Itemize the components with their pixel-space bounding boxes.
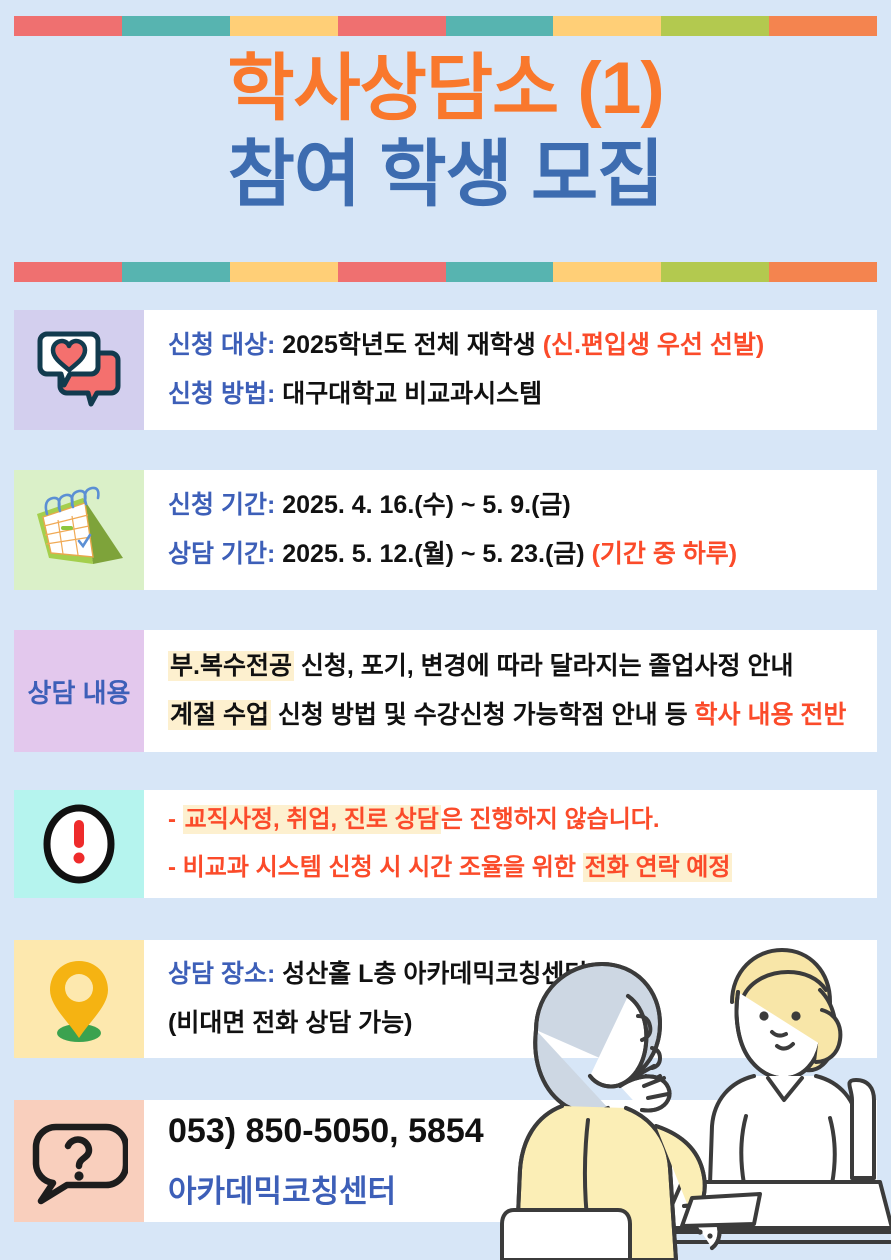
line-application-target: 신청 대상: 2025학년도 전체 재학생 (신.편입생 우선 선발) — [168, 327, 877, 365]
line-place-note: (비대면 전화 상담 가능) — [168, 1005, 877, 1043]
dash-notice-2: - — [168, 854, 183, 881]
color-segment-2 — [122, 262, 230, 282]
contact-phone-number: 053) 850-5050, 5854 — [168, 1106, 877, 1157]
value-counseling-period: 2025. 5. 12.(월) ~ 5. 23.(금) — [275, 540, 591, 568]
value-application-method: 대구대학교 비교과시스템 — [275, 380, 542, 408]
highlight-double-major: 부.복수전공 — [168, 651, 294, 681]
row-contact: 053) 850-5050, 5854 아카데믹코칭센터 — [14, 1100, 877, 1222]
color-segment-1 — [14, 262, 122, 282]
note-counseling-period: (기간 중 하루) — [592, 540, 738, 568]
desk-calendar-icon-cell — [14, 470, 144, 590]
text-content-1: 신청, 포기, 변경에 따라 달라지는 졸업사정 안내 — [294, 652, 794, 680]
line-content-2: 계절 수업 신청 방법 및 수강신청 가능학점 안내 등 학사 내용 전반 — [168, 697, 877, 735]
color-segment-8 — [769, 262, 877, 282]
title-line-2: 참여 학생 모집 — [0, 132, 891, 218]
line-notice-1: - 교직사정, 취업, 진로 상담은 진행하지 않습니다. — [168, 802, 877, 838]
highlight-seasonal-class: 계절 수업 — [168, 700, 271, 730]
row-application-target-body: 신청 대상: 2025학년도 전체 재학생 (신.편입생 우선 선발) 신청 방… — [144, 310, 877, 430]
value-application-target: 2025학년도 전체 재학생 — [275, 331, 542, 359]
highlight-phone-contact: 전화 연락 예정 — [583, 853, 733, 882]
color-segment-6 — [553, 262, 661, 282]
color-segment-2 — [122, 16, 230, 36]
line-counseling-period: 상담 기간: 2025. 5. 12.(월) ~ 5. 23.(금) (기간 중… — [168, 536, 877, 574]
color-segment-5 — [446, 16, 554, 36]
row-period-body: 신청 기간: 2025. 4. 16.(수) ~ 5. 9.(금) 상담 기간:… — [144, 470, 877, 590]
label-counseling-period: 상담 기간: — [168, 540, 275, 568]
color-segment-5 — [446, 262, 554, 282]
row-period: 신청 기간: 2025. 4. 16.(수) ~ 5. 9.(금) 상담 기간:… — [14, 470, 877, 590]
exclamation-circle-icon-cell — [14, 790, 144, 898]
label-application-method: 신청 방법: — [168, 380, 275, 408]
color-segment-7 — [661, 16, 769, 36]
note-application-target: (신.편입생 우선 선발) — [543, 331, 765, 359]
row-notice-body: - 교직사정, 취업, 진로 상담은 진행하지 않습니다. - 비교과 시스템 … — [144, 790, 877, 898]
map-pin-icon-cell — [14, 940, 144, 1058]
map-pin-icon — [40, 953, 118, 1045]
poster-root: 학사상담소 (1) 참여 학생 모집 신청 대상: 2025학년도 전체 재학생… — [0, 0, 891, 1260]
row-notice: - 교직사정, 취업, 진로 상담은 진행하지 않습니다. - 비교과 시스템 … — [14, 790, 877, 898]
row-place-body: 상담 장소: 성산홀 L층 아카데믹코칭센터 (비대면 전화 상담 가능) — [144, 940, 877, 1058]
title-line-1: 학사상담소 (1) — [0, 46, 891, 132]
row-application-target: 신청 대상: 2025학년도 전체 재학생 (신.편입생 우선 선발) 신청 방… — [14, 310, 877, 430]
text-content-2: 신청 방법 및 수강신청 가능학점 안내 등 — [271, 701, 695, 729]
highlight-excluded-topics: 교직사정, 취업, 진로 상담 — [183, 805, 441, 834]
poster-title: 학사상담소 (1) 참여 학생 모집 — [0, 46, 891, 218]
speech-bubble-heart-icon-cell — [14, 310, 144, 430]
line-place: 상담 장소: 성산홀 L층 아카데믹코칭센터 — [168, 956, 877, 994]
color-segment-8 — [769, 16, 877, 36]
speech-bubble-question-icon-cell — [14, 1100, 144, 1222]
dash-notice-1: - — [168, 806, 183, 833]
label-place: 상담 장소: — [168, 960, 275, 988]
color-segment-6 — [553, 16, 661, 36]
label-application-period: 신청 기간: — [168, 491, 275, 519]
row-place: 상담 장소: 성산홀 L층 아카데믹코칭센터 (비대면 전화 상담 가능) — [14, 940, 877, 1058]
line-application-period: 신청 기간: 2025. 4. 16.(수) ~ 5. 9.(금) — [168, 487, 877, 525]
exclamation-circle-icon — [39, 803, 119, 885]
color-segment-3 — [230, 16, 338, 36]
label-application-target: 신청 대상: — [168, 331, 275, 359]
line-notice-2: - 비교과 시스템 신청 시 시간 조율을 위한 전화 연락 예정 — [168, 850, 877, 886]
color-segment-4 — [338, 262, 446, 282]
speech-bubble-heart-icon — [33, 329, 125, 411]
value-application-period: 2025. 4. 16.(수) ~ 5. 9.(금) — [275, 491, 570, 519]
row-counseling-content-body: 부.복수전공 신청, 포기, 변경에 따라 달라지는 졸업사정 안내 계절 수업… — [144, 630, 877, 752]
top-color-bar — [14, 16, 877, 36]
line-content-1: 부.복수전공 신청, 포기, 변경에 따라 달라지는 졸업사정 안내 — [168, 648, 877, 686]
color-segment-4 — [338, 16, 446, 36]
color-segment-3 — [230, 262, 338, 282]
line-application-method: 신청 방법: 대구대학교 비교과시스템 — [168, 376, 877, 414]
row-contact-body: 053) 850-5050, 5854 아카데믹코칭센터 — [144, 1100, 877, 1222]
value-place: 성산홀 L층 아카데믹코칭센터 — [275, 960, 587, 988]
color-segment-1 — [14, 16, 122, 36]
row-counseling-content: 상담 내용 부.복수전공 신청, 포기, 변경에 따라 달라지는 졸업사정 안내… — [14, 630, 877, 752]
desk-calendar-icon — [27, 484, 131, 576]
text-content-2-emphasis: 학사 내용 전반 — [695, 701, 847, 729]
label-counseling-content: 상담 내용 — [14, 630, 144, 752]
text-notice-2: 비교과 시스템 신청 시 시간 조율을 위한 — [183, 854, 583, 881]
text-notice-1: 은 진행하지 않습니다. — [441, 806, 660, 833]
color-segment-7 — [661, 262, 769, 282]
bottom-color-bar — [14, 262, 877, 282]
contact-center-name: 아카데믹코칭센터 — [168, 1169, 877, 1216]
text-place-note: (비대면 전화 상담 가능) — [168, 1009, 413, 1037]
speech-bubble-question-icon — [30, 1117, 128, 1205]
